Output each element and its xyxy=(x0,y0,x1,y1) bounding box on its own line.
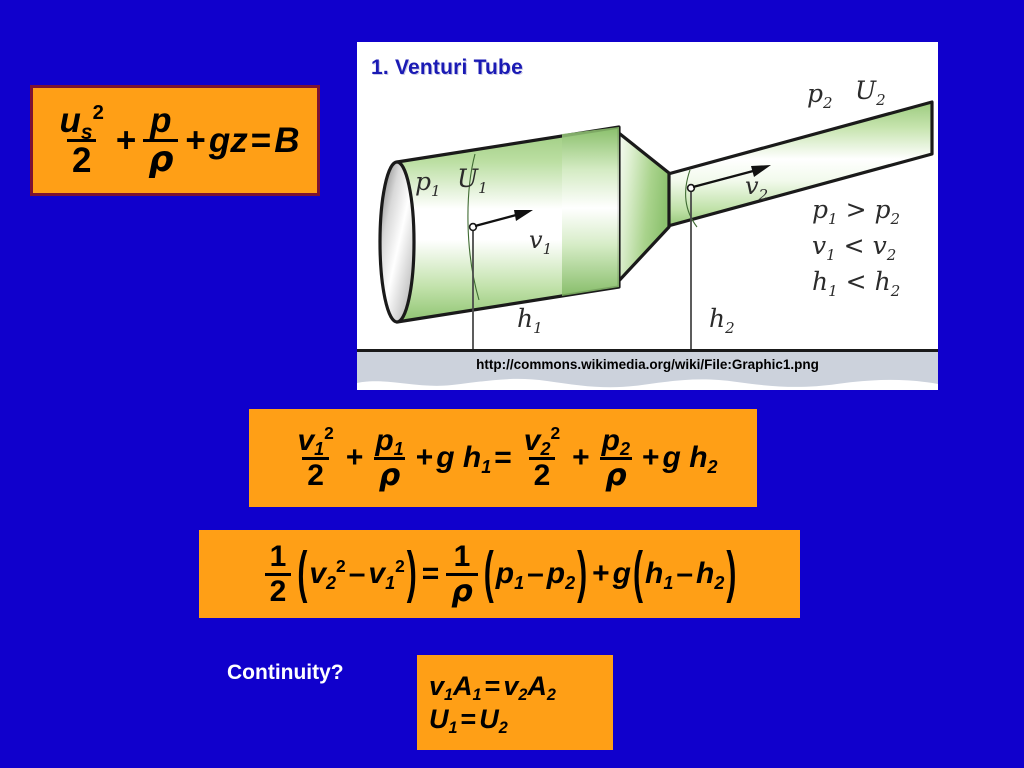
var-p: p xyxy=(496,557,514,590)
subscript-1: 1 xyxy=(663,573,673,593)
tube-throat-shading xyxy=(562,127,619,296)
open-paren-2: ( xyxy=(482,546,496,603)
subscript-2: 2 xyxy=(326,573,336,593)
var-v: v xyxy=(429,671,444,701)
figure-title: 1. Venturi Tube xyxy=(371,56,523,80)
superscript-2: 2 xyxy=(395,556,405,576)
fraction-denominator-rho: ρ xyxy=(446,573,477,607)
minus-operator-2: – xyxy=(524,559,547,589)
inequality-pressure: p1>p2 xyxy=(812,195,900,228)
term-h1: h1 xyxy=(645,559,673,589)
label-p2: p2 xyxy=(807,79,833,112)
plus-operator: + xyxy=(343,443,367,473)
superscript-2: 2 xyxy=(336,556,346,576)
subscript-2: 2 xyxy=(565,573,575,593)
fraction-numerator: v12 xyxy=(292,426,338,457)
term-gh2: g h2 xyxy=(663,443,718,473)
var-A: A xyxy=(453,671,473,701)
plus-operator-1: + xyxy=(113,123,139,158)
close-paren-2: ) xyxy=(575,546,589,603)
fraction-denominator-rho: ρ xyxy=(600,457,631,491)
equals-operator: = xyxy=(419,559,443,589)
subscript-1: 1 xyxy=(473,686,482,704)
var-v: v xyxy=(368,557,385,590)
fraction-denominator: 2 xyxy=(67,139,96,178)
term-p1: p1 xyxy=(496,559,524,589)
tube-contraction-cone xyxy=(615,130,669,285)
rearranged-formula: 1 2 ( v22 – v12 ) = 1 ρ ( p1 – p2 ) + g … xyxy=(261,542,739,607)
fraction-numerator: us2 xyxy=(55,103,109,139)
plus-operator: + xyxy=(639,443,663,473)
term-p2: p2 xyxy=(547,559,575,589)
plus-operator: + xyxy=(589,559,613,589)
open-paren-1: ( xyxy=(295,546,309,603)
continuity-equation-line-2: U1 = U2 xyxy=(429,706,508,733)
subscript-1: 1 xyxy=(385,573,395,593)
subscript-2: 2 xyxy=(547,686,556,704)
subscript-s: s xyxy=(81,121,93,144)
subscript-2: 2 xyxy=(620,439,630,459)
fraction-one-over-rho: 1 ρ xyxy=(446,542,477,607)
close-paren-1: ) xyxy=(405,546,419,603)
bernoulli-1-2-equation-box: v12 2 + p1 ρ + g h1 = v22 2 + p2 ρ + g h… xyxy=(249,409,757,507)
equals-operator: = xyxy=(482,673,504,700)
superscript-2: 2 xyxy=(550,423,560,443)
subscript-2: 2 xyxy=(518,686,527,704)
plus-operator: + xyxy=(569,443,593,473)
term-U1: U1 xyxy=(429,706,458,733)
fraction-v2sq-over-2: v22 2 xyxy=(519,426,565,491)
bernoulli-constant-equation-box: us2 2 + p ρ + gz = B xyxy=(30,85,320,196)
superscript-2: 2 xyxy=(93,102,104,124)
var-u: u xyxy=(60,101,81,140)
var-p: p xyxy=(375,424,393,457)
var-U: U xyxy=(429,704,449,734)
equals-operator: = xyxy=(491,443,515,473)
term-U2: U2 xyxy=(479,706,508,733)
term-v2: v2 xyxy=(503,673,527,700)
fraction-denominator: 2 xyxy=(265,573,292,607)
equals-operator: = xyxy=(248,123,274,158)
subscript-2: 2 xyxy=(499,719,508,737)
caption-wave-edge xyxy=(357,376,938,390)
fraction-denominator: 2 xyxy=(529,457,556,491)
subscript-1: 1 xyxy=(481,457,491,477)
fraction-numerator: p xyxy=(145,103,176,139)
bernoulli-constant-formula: us2 2 + p ρ + gz = B xyxy=(51,103,300,178)
term-v1: v1 xyxy=(429,673,453,700)
term-A2: A2 xyxy=(527,673,556,700)
figure-caption-band: http://commons.wikimedia.org/wiki/File:G… xyxy=(357,349,938,390)
superscript-2: 2 xyxy=(324,423,334,443)
subscript-2: 2 xyxy=(540,439,550,459)
subscript-1: 1 xyxy=(514,573,524,593)
gh-text: g h xyxy=(663,441,708,474)
subscript-2: 2 xyxy=(714,573,724,593)
term-gz: gz xyxy=(209,123,248,158)
var-v: v xyxy=(309,557,326,590)
var-p: p xyxy=(547,557,565,590)
fraction-p2-over-rho: p2 ρ xyxy=(597,426,635,491)
fraction-numerator: 1 xyxy=(265,542,292,573)
gh-text: g h xyxy=(436,441,481,474)
rearranged-equation-box: 1 2 ( v22 – v12 ) = 1 ρ ( p1 – p2 ) + g … xyxy=(199,530,800,618)
tube-inlet-cap xyxy=(380,162,414,322)
label-U2: U2 xyxy=(855,76,886,109)
fraction-denominator: 2 xyxy=(302,457,329,491)
fraction-numerator: 1 xyxy=(449,542,476,573)
figure-caption-url: http://commons.wikimedia.org/wiki/File:G… xyxy=(357,357,938,372)
term-h2: h2 xyxy=(696,559,724,589)
var-v: v xyxy=(524,424,541,457)
close-paren-3: ) xyxy=(724,546,738,603)
minus-operator-3: – xyxy=(673,559,696,589)
fraction-us2-over-2: us2 2 xyxy=(55,103,109,178)
var-p: p xyxy=(602,424,620,457)
equals-operator: = xyxy=(458,706,480,733)
var-v: v xyxy=(297,424,314,457)
bernoulli-1-2-formula: v12 2 + p1 ρ + g h1 = v22 2 + p2 ρ + g h… xyxy=(288,426,717,491)
figure-title-text: 1. Venturi Tube xyxy=(371,56,523,79)
fraction-numerator: v22 xyxy=(519,426,565,457)
term-g: g xyxy=(613,559,631,589)
term-A1: A1 xyxy=(453,673,482,700)
var-h: h xyxy=(645,557,663,590)
term-v1-squared: v12 xyxy=(368,559,404,589)
inequality-height: h1<h2 xyxy=(812,267,900,300)
subscript-1: 1 xyxy=(449,719,458,737)
fraction-numerator: p1 xyxy=(370,426,408,457)
fraction-v1sq-over-2: v12 2 xyxy=(292,426,338,491)
var-U: U xyxy=(479,704,499,734)
var-h: h xyxy=(696,557,714,590)
fraction-denominator-rho: ρ xyxy=(374,457,405,491)
subscript-1: 1 xyxy=(394,439,404,459)
plus-operator: + xyxy=(413,443,437,473)
var-A: A xyxy=(527,671,547,701)
fraction-numerator: p2 xyxy=(597,426,635,457)
var-v: v xyxy=(503,671,518,701)
venturi-tube-diagram: p1 U1 v1 p2 U2 v2 h1 h2 p1>p2 v1<v2 h1<h… xyxy=(357,42,938,390)
inequality-velocity: v1<v2 xyxy=(812,231,896,264)
continuity-question-label: Continuity? xyxy=(227,661,344,685)
term-v2-squared: v22 xyxy=(309,559,345,589)
fraction-one-half: 1 2 xyxy=(265,542,292,607)
venturi-figure-panel: 1. Venturi Tube xyxy=(357,42,938,390)
subscript-1: 1 xyxy=(314,439,324,459)
subscript-2: 2 xyxy=(708,457,718,477)
continuity-equation-line-1: v1 A1 = v2 A2 xyxy=(429,673,556,700)
plus-operator-2: + xyxy=(182,123,208,158)
fraction-p1-over-rho: p1 ρ xyxy=(370,426,408,491)
subscript-1: 1 xyxy=(444,686,453,704)
fraction-denominator-rho: ρ xyxy=(143,139,178,178)
fraction-p-over-rho: p ρ xyxy=(143,103,178,178)
term-gh1: g h1 xyxy=(436,443,491,473)
open-paren-3: ( xyxy=(631,546,645,603)
label-h1: h1 xyxy=(517,304,543,337)
continuity-equation-box: v1 A1 = v2 A2 U1 = U2 xyxy=(417,655,613,750)
label-h2: h2 xyxy=(709,304,735,337)
minus-operator-1: – xyxy=(346,559,369,589)
term-B: B xyxy=(274,123,299,158)
